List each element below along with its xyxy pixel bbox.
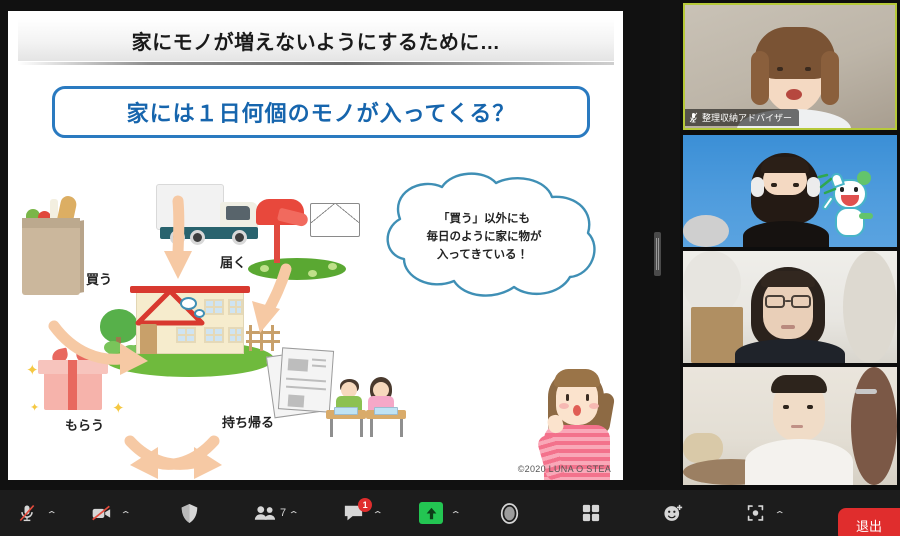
video-options-caret[interactable]: ⌄ [118, 490, 134, 536]
apps-bracket-icon [742, 502, 768, 524]
participant-tile-3[interactable] [683, 251, 897, 363]
presentation-slide: 家にモノが増えないようにするために… 家には１日何個のモノが入ってくる？ 買う … [8, 11, 623, 480]
reactions-smiley-icon [660, 502, 686, 524]
chevron-up-icon: ⌄ [288, 508, 300, 519]
door-4 [851, 367, 897, 485]
record-icon [496, 502, 522, 524]
participant-name-tag-1: 整理収納アドバイザー [685, 109, 799, 126]
mute-button[interactable] [10, 490, 44, 536]
chat-button[interactable]: 1 [336, 490, 370, 536]
door-handle-4 [855, 389, 877, 394]
leave-meeting-button[interactable]: 退出 [838, 508, 900, 536]
participants-icon [252, 502, 278, 524]
breakout-rooms-icon [578, 502, 604, 524]
chevron-up-icon: ⌄ [372, 508, 384, 519]
chat-unread-badge: 1 [358, 498, 372, 512]
reactions-button[interactable] [656, 490, 690, 536]
eye-left-4 [783, 405, 789, 409]
thought-bubble-text: 「買う」以外にも 毎日のように家に物が 入ってきている ！ [360, 211, 608, 264]
meeting-toolbar: ⌄ ⌄ [0, 490, 900, 536]
participants-options-caret[interactable]: ⌄ [286, 490, 302, 536]
share-screen-button[interactable] [414, 490, 448, 536]
chevron-up-icon: ⌄ [46, 508, 58, 519]
thought-line-1: 「買う」以外にも [360, 211, 608, 229]
share-screen-icon [419, 502, 443, 524]
wall-left-3 [683, 251, 741, 315]
chat-icon: 1 [340, 502, 366, 524]
leave-meeting-label: 退出 [856, 516, 882, 535]
participants-count: 7 [280, 507, 286, 519]
eye-right-2 [793, 183, 799, 187]
thought-line-2: 毎日のように家に物が [360, 229, 608, 247]
chevron-up-icon: ⌄ [120, 508, 132, 519]
share-options-caret[interactable]: ⌄ [448, 490, 464, 536]
shoulders-3 [735, 339, 845, 363]
chevron-up-icon: ⌄ [450, 508, 462, 519]
apps-options-caret[interactable]: ⌄ [772, 490, 788, 536]
thought-line-3: 入ってきている ！ [360, 247, 608, 265]
hair-4 [771, 375, 827, 393]
slide-title: 家にモノが増えないようにするために… [132, 26, 501, 55]
mouth-1 [786, 89, 802, 100]
zoom-meeting-window: 家にモノが増えないようにするために… 家には１日何個のモノが入ってくる？ 買う … [0, 0, 900, 536]
thought-tail-small [194, 309, 205, 318]
hair-side-right-1 [821, 51, 839, 105]
thought-tail-large [180, 297, 197, 310]
participant-tile-2[interactable] [683, 135, 897, 247]
video-muted-icon [88, 502, 114, 524]
participants-button[interactable]: 7 [252, 490, 286, 536]
mic-muted-icon [14, 502, 40, 524]
mic-muted-icon [689, 112, 698, 123]
desk-object-2 [683, 215, 729, 247]
audio-options-caret[interactable]: ⌄ [44, 490, 60, 536]
record-button[interactable] [492, 490, 526, 536]
glasses-left-3 [765, 295, 785, 308]
title-divider [18, 62, 614, 65]
security-button[interactable] [172, 490, 206, 536]
slide-title-bar: 家にモノが増えないようにするために… [18, 19, 614, 61]
eye-left-1 [777, 67, 783, 71]
eye-left-2 [771, 183, 777, 187]
fringe-2 [761, 157, 809, 173]
panel-drag-handle[interactable] [654, 232, 661, 276]
curtain-3 [843, 251, 897, 363]
participant-tile-1[interactable]: 整理収納アドバイザー [683, 3, 897, 130]
eye-right-1 [805, 67, 811, 71]
breakout-rooms-button[interactable] [574, 490, 608, 536]
participant-tile-4[interactable] [683, 367, 897, 485]
thought-bubble: 「買う」以外にも 毎日のように家に物が 入ってきている ！ [360, 171, 608, 301]
chat-options-caret[interactable]: ⌄ [370, 490, 386, 536]
apps-button[interactable] [738, 490, 772, 536]
chevron-up-icon: ⌄ [774, 508, 786, 519]
shoulders-2 [743, 221, 829, 247]
fringe-3 [761, 271, 815, 287]
eye-right-4 [807, 405, 813, 409]
mouth-4 [791, 425, 803, 428]
shoulders-4 [745, 439, 853, 485]
slide-copyright: ©2020 LUNA O STEA [518, 464, 611, 474]
hair-side-left-1 [751, 51, 769, 105]
participant-name-1: 整理収納アドバイザー [702, 111, 792, 124]
mouth-3 [781, 325, 795, 329]
participant-video-strip: 整理収納アドバイザー [680, 0, 900, 490]
headset-left-2 [751, 177, 764, 197]
glasses-bridge-3 [784, 300, 792, 302]
video-button[interactable] [84, 490, 118, 536]
shield-icon [176, 502, 202, 524]
glasses-right-3 [791, 295, 811, 308]
shared-screen-region[interactable]: 家にモノが増えないようにするために… 家には１日何個のモノが入ってくる？ 買う … [0, 0, 660, 490]
